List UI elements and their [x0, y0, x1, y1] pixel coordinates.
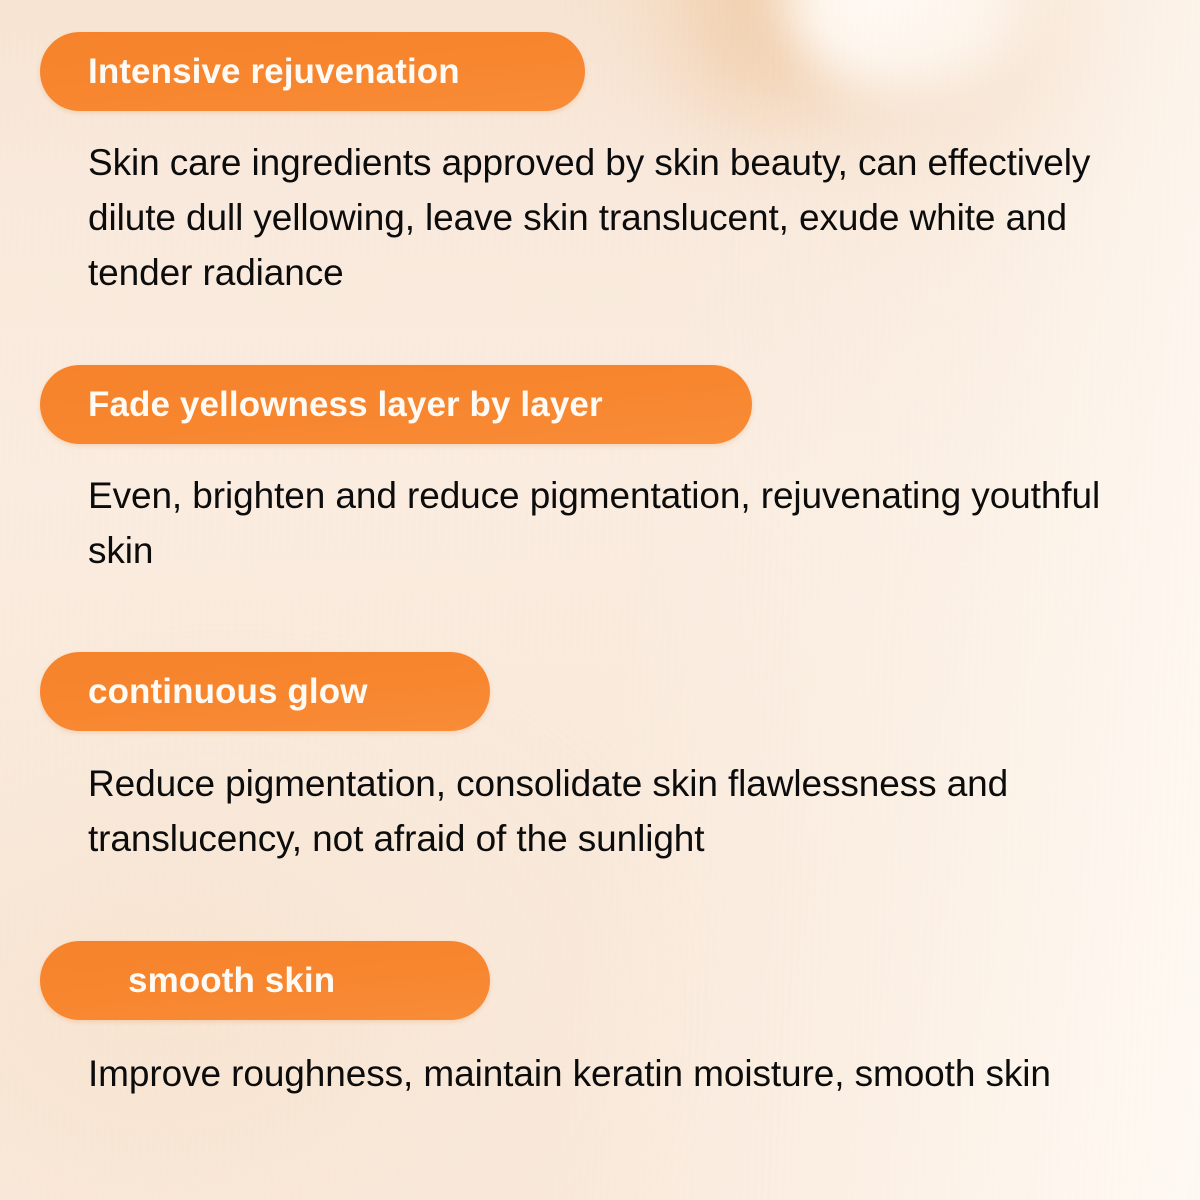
benefit-description-3: Reduce pigmentation, consolidate skin fl… [0, 731, 1200, 866]
product-benefits-poster: Intensive rejuvenation Skin care ingredi… [0, 0, 1200, 1200]
benefit-section-fade-yellowness: Fade yellowness layer by layer Even, bri… [0, 300, 1200, 578]
benefit-section-intensive-rejuvenation: Intensive rejuvenation Skin care ingredi… [0, 0, 1200, 300]
benefit-section-continuous-glow: continuous glow Reduce pigmentation, con… [0, 578, 1200, 866]
benefit-description-1: Skin care ingredients approved by skin b… [0, 111, 1200, 300]
benefit-description-2: Even, brighten and reduce pigmentation, … [0, 444, 1200, 578]
benefit-description-4: Improve roughness, maintain keratin mois… [0, 1020, 1200, 1101]
benefit-heading-pill-3: continuous glow [40, 652, 490, 731]
benefit-heading-pill-1: Intensive rejuvenation [40, 32, 585, 111]
benefit-heading-pill-2: Fade yellowness layer by layer [40, 365, 752, 444]
benefit-heading-pill-4: smooth skin [40, 941, 490, 1020]
benefit-section-smooth-skin: smooth skin Improve roughness, maintain … [0, 866, 1200, 1101]
benefits-list: Intensive rejuvenation Skin care ingredi… [0, 0, 1200, 1101]
